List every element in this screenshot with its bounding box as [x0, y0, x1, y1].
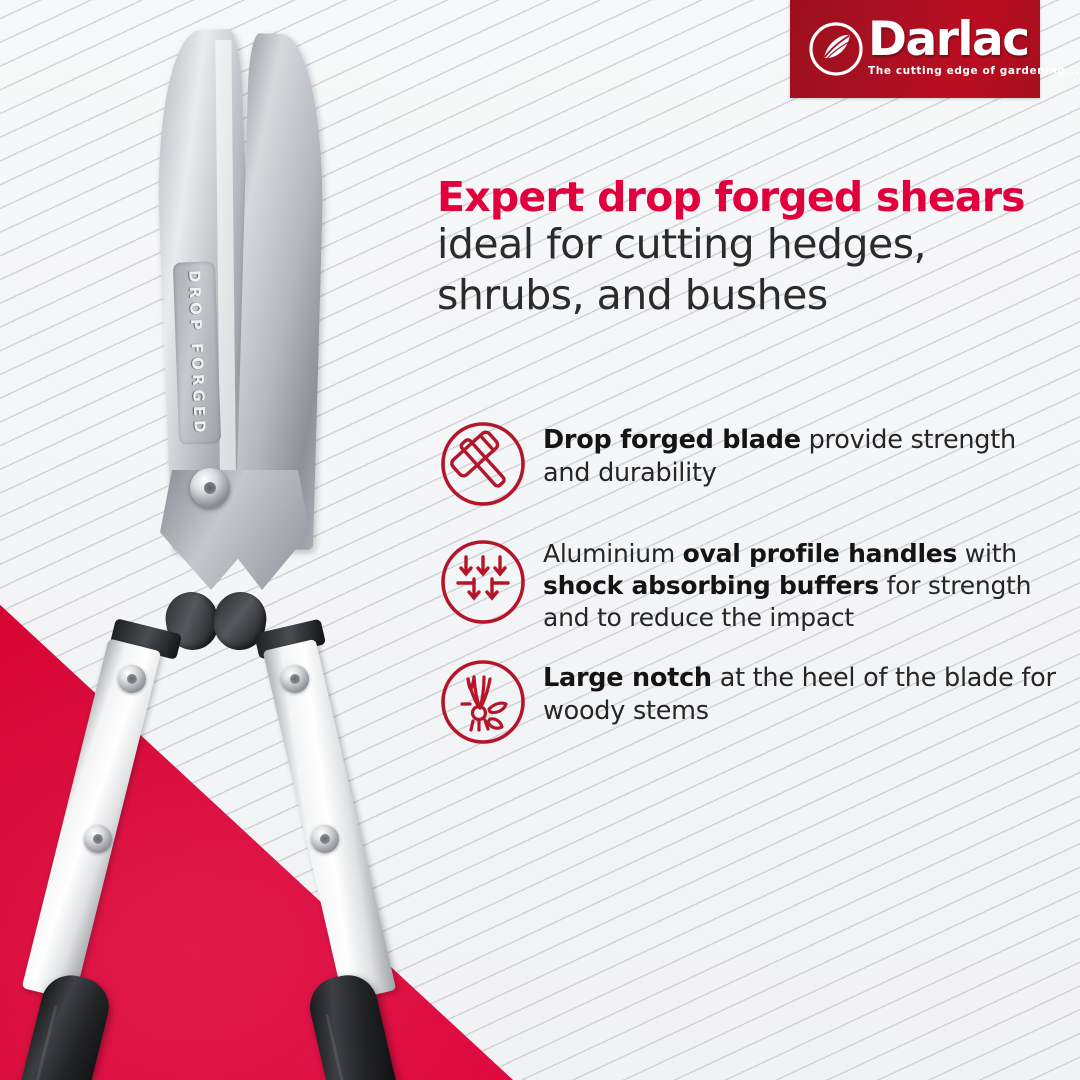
- aluminium-handle-right: [263, 639, 397, 1002]
- aluminium-handle-left: [22, 638, 161, 1000]
- blade-stamp-plate: DROP FORGED: [173, 261, 221, 444]
- brand-logo-plate: Darlac The cutting edge of gardening...: [790, 0, 1040, 98]
- feature-item-large-notch: Large notch at the heel of the blade for…: [437, 656, 1062, 748]
- feature-bold-lead: Large notch: [543, 663, 712, 693]
- pivot-bolt: [190, 468, 230, 508]
- seg-plain-2: with: [957, 539, 1017, 568]
- seg-bold-2: shock absorbing buffers: [543, 571, 879, 600]
- headline-line-3: shrubs, and bushes: [437, 270, 1057, 321]
- seg-bold-1: oval profile handles: [683, 539, 957, 568]
- handle-rivet: [281, 665, 309, 693]
- pruning-shears-leaves-icon: [437, 656, 529, 748]
- infographic-canvas: DROP FORGED Darlac The cutting e: [0, 0, 1080, 1080]
- headline-block: Expert drop forged shears ideal for cutt…: [437, 176, 1057, 321]
- feature-list: Drop forged blade provide strength and d…: [437, 418, 1062, 770]
- seg-plain-1: Aluminium: [543, 539, 683, 568]
- handle-rivet: [118, 665, 146, 693]
- headline-line-1: Expert drop forged shears: [437, 176, 1057, 219]
- feature-item-drop-forged-blade: Drop forged blade provide strength and d…: [437, 418, 1062, 510]
- shear-pivot-body: [160, 470, 310, 590]
- headline-line-2: ideal for cutting hedges,: [437, 219, 1057, 270]
- shock-absorb-arrows-icon: [437, 536, 529, 628]
- handle-rivet: [311, 825, 339, 853]
- feature-text-oval-handles: Aluminium oval profile handles with shoc…: [543, 532, 1062, 634]
- feature-bold-lead: Drop forged blade: [543, 425, 801, 455]
- hammer-icon: [437, 418, 529, 510]
- leaf-in-circle-icon: [806, 19, 866, 79]
- feature-text-drop-forged-blade: Drop forged blade provide strength and d…: [543, 418, 1062, 489]
- handle-rivet: [84, 825, 112, 853]
- brand-tagline: The cutting edge of gardening...: [868, 65, 1079, 77]
- feature-item-oval-handles: Aluminium oval profile handles with shoc…: [437, 532, 1062, 634]
- brand-name: Darlac: [868, 17, 1079, 62]
- blade-stamp-text: DROP FORGED: [185, 269, 209, 436]
- feature-text-large-notch: Large notch at the heel of the blade for…: [543, 656, 1062, 727]
